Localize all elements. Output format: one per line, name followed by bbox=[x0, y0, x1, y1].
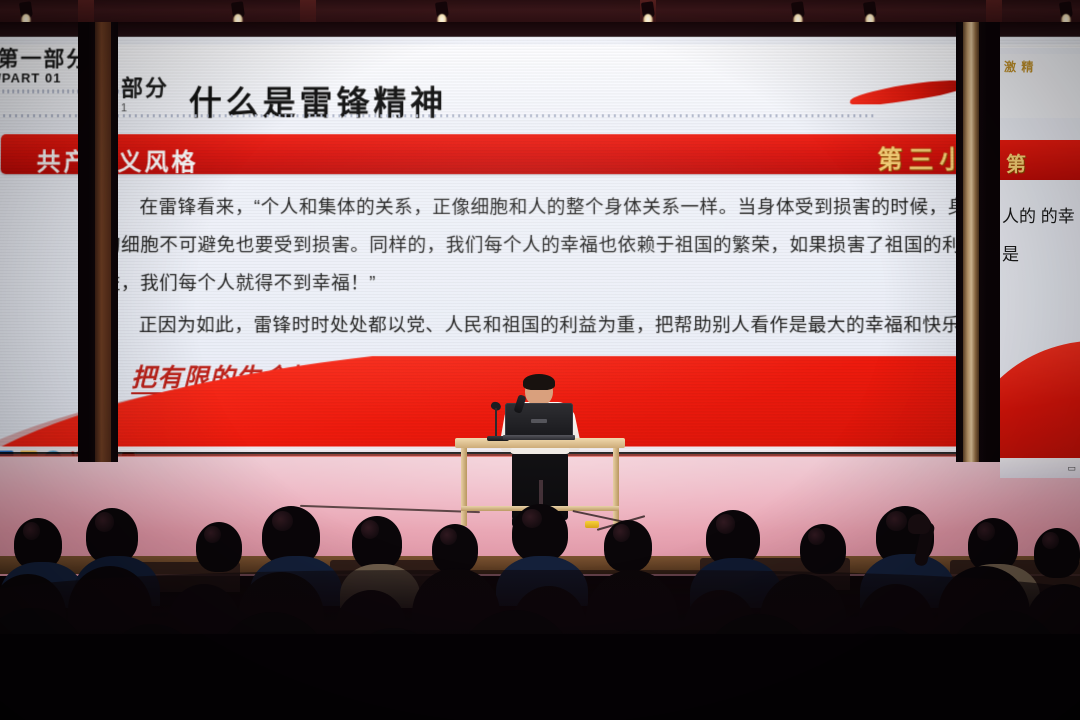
part-label-secondary-text: 部分 bbox=[121, 76, 169, 101]
slide-paragraph-2: 正因为如此，雷锋时时处处都以党、人民和祖国的利益为重，把帮助别人看作是最大的幸福… bbox=[101, 306, 997, 344]
auditorium-scene: 第一部分 /PART 01 部分 1 什么是雷锋精神 激发 争做 共产主义风格 bbox=[0, 0, 1080, 720]
audience-head bbox=[352, 516, 402, 570]
hall-pillar-left bbox=[88, 22, 118, 462]
screen-gap-right bbox=[986, 22, 1000, 462]
audience-raised-hand-fingers bbox=[908, 514, 930, 534]
aux-wave-graphic bbox=[1000, 336, 1080, 467]
audience-head bbox=[800, 524, 846, 574]
aux-ribbon-text: 第 bbox=[1006, 148, 1026, 177]
slide-part-label-secondary: 部分 1 bbox=[121, 71, 169, 115]
aux-red-ribbon: 第 bbox=[1000, 140, 1080, 180]
secondary-led-panel: 激 精 第 人的 的幸 是 ▭ bbox=[1000, 48, 1080, 478]
aux-tray-icon: ▭ bbox=[1067, 463, 1076, 474]
audience-head bbox=[1034, 528, 1080, 578]
audience-head bbox=[604, 520, 652, 572]
audience-head bbox=[512, 504, 568, 562]
slide-paragraph-1: 在雷锋看来，“个人和集体的关系，正像细胞和人的整个身体关系一样。当身体受到损害的… bbox=[102, 188, 998, 302]
audience-head bbox=[196, 522, 242, 572]
slide-dotted-divider bbox=[0, 114, 875, 117]
aux-taskbar: ▭ bbox=[1000, 458, 1080, 478]
slide-body-text: 在雷锋看来，“个人和集体的关系，正像细胞和人的整个身体关系一样。当身体受到损害的… bbox=[101, 188, 997, 344]
hall-pillar-right bbox=[956, 22, 986, 462]
audience-head bbox=[432, 524, 478, 574]
aux-gold-text: 激 精 bbox=[1004, 60, 1034, 76]
audience-bottom-shadow bbox=[0, 634, 1080, 720]
audience-section bbox=[0, 500, 1080, 720]
part-label-secondary-sub: 1 bbox=[121, 102, 169, 114]
aux-body-text: 人的 的幸 是 bbox=[1002, 198, 1080, 274]
slide-red-ribbon: 共产主义风格 第三小节 bbox=[1, 134, 1064, 174]
screen-top-bezel bbox=[0, 22, 1080, 36]
